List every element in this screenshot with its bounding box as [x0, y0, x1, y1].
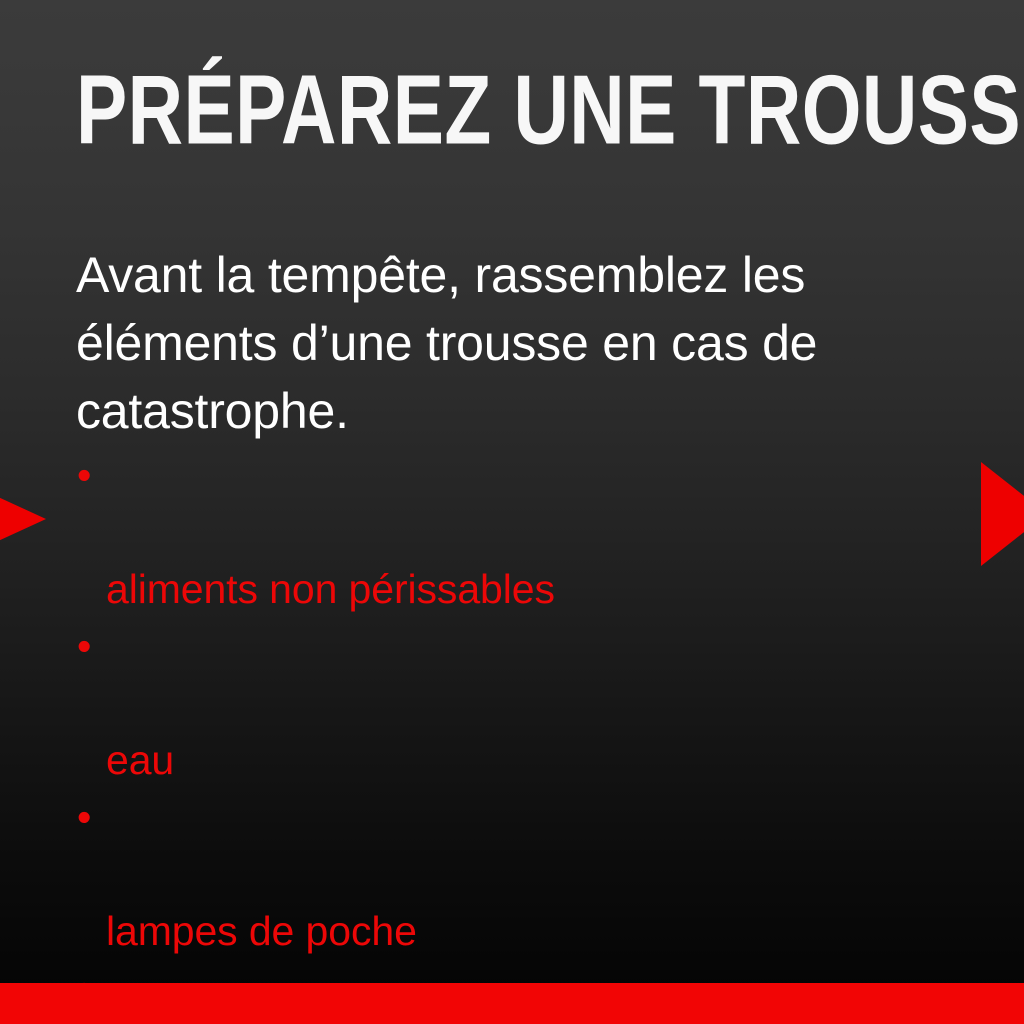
list-item: • aliments non périssables [76, 447, 976, 618]
bullet-icon: • [77, 789, 91, 846]
list-item-label: aliments non périssables [106, 566, 555, 612]
right-arrow-triangle-icon [981, 462, 1024, 566]
list-item-label: eau [106, 737, 174, 783]
poster-canvas: PRÉPAREZ UNE TROUSSE Avant la tempête, r… [0, 0, 1024, 1024]
page-title: PRÉPAREZ UNE TROUSSE [76, 62, 780, 160]
bullet-icon: • [77, 618, 91, 675]
title-container: PRÉPAREZ UNE TROUSSE [76, 62, 956, 170]
list-item-label: lampes de poche [106, 908, 417, 954]
bottom-accent-bar [0, 983, 1024, 1024]
list-item: • eau [76, 618, 976, 789]
list-item: • lampes de poche [76, 789, 976, 960]
intro-paragraph: Avant la tempête, rassemblez les élément… [76, 241, 976, 445]
bullet-icon: • [77, 447, 91, 504]
left-arrow-triangle-icon [0, 485, 46, 553]
emergency-kit-list: • aliments non périssables • eau • lampe… [76, 447, 976, 1024]
